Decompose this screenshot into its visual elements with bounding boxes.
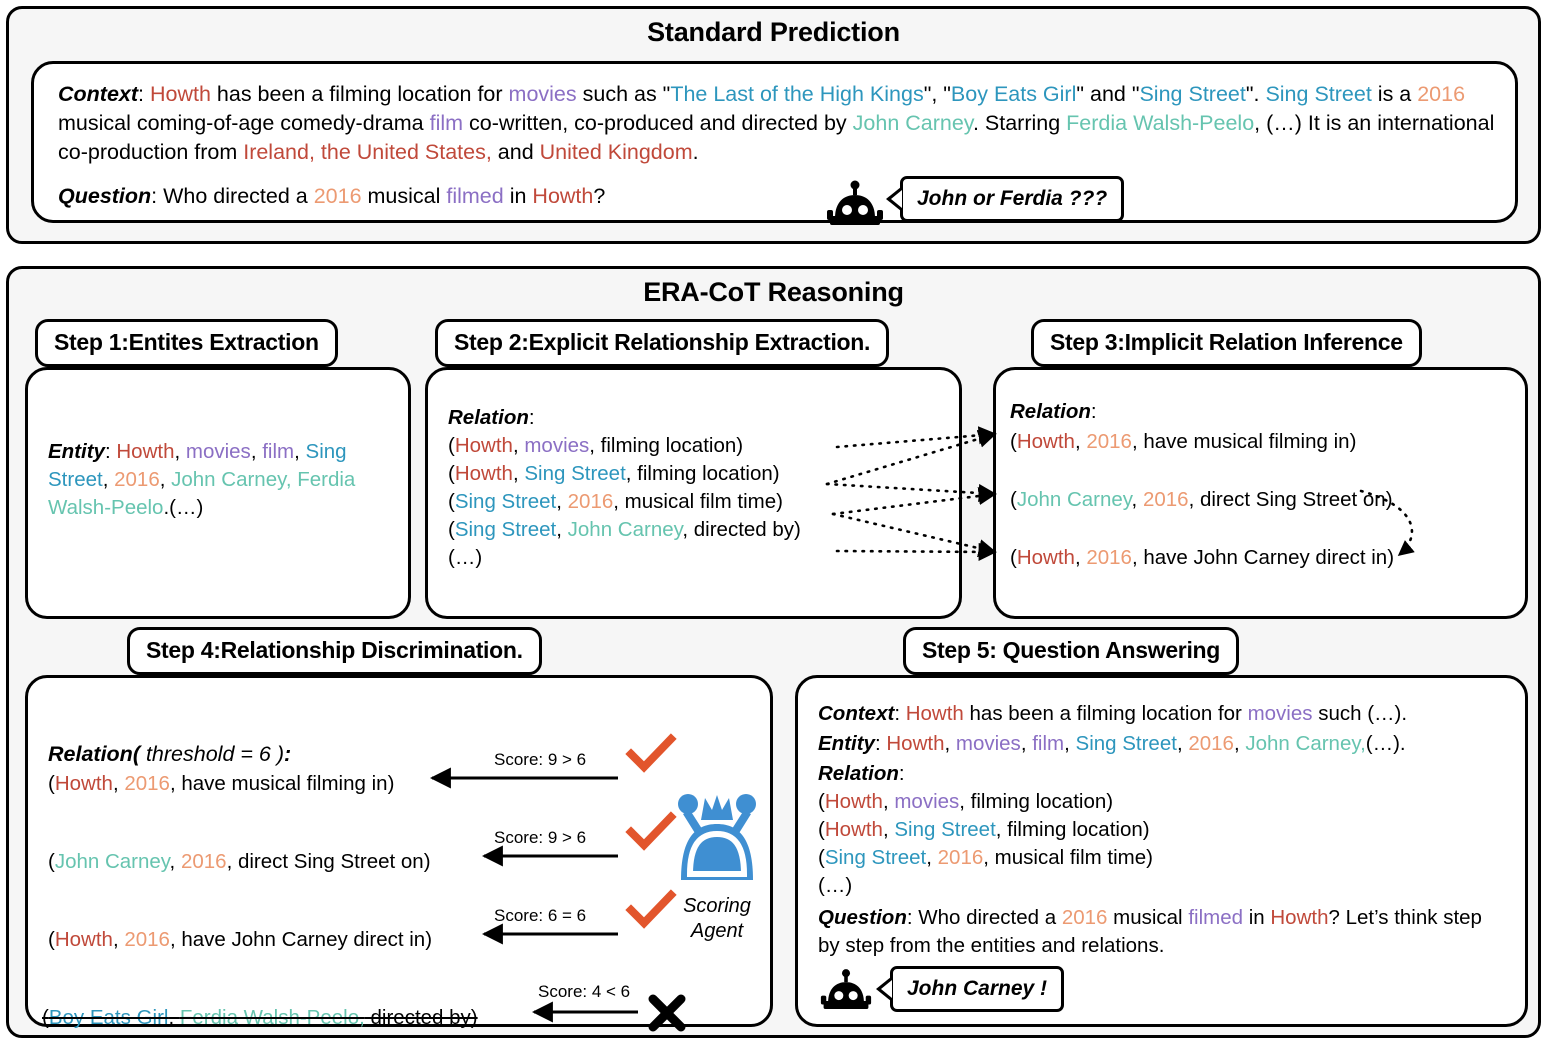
step2-relation-heading: Relation: bbox=[448, 404, 535, 432]
check-icon-1 bbox=[628, 736, 674, 772]
relation-row: (Howth, movies, filming location) bbox=[448, 432, 958, 460]
standard-question-text: Question: Who directed a 2016 musical fi… bbox=[58, 182, 818, 211]
step5-pill: Step 5: Question Answering bbox=[903, 627, 1239, 675]
step1-card: Entity: Howth, movies, film, Sing Street… bbox=[25, 367, 411, 619]
relation-row: (Howth, Sing Street, filming location) bbox=[818, 816, 1498, 844]
relation-row: (…) bbox=[818, 872, 1498, 900]
question-label: Question bbox=[818, 906, 907, 929]
step4-relation-heading: Relation( threshold = 6 ): bbox=[48, 740, 291, 769]
cross-icon-4 bbox=[648, 994, 686, 1032]
step4-row-4: (Boy Eats Girl, Ferdia Walsh-Peelo, dire… bbox=[42, 1004, 478, 1032]
context-rich: : Howth has been a filming location for … bbox=[894, 702, 1407, 725]
step5-context-text: Context: Howth has been a filming locati… bbox=[818, 700, 1407, 728]
step3-relation-heading: Relation: bbox=[1010, 398, 1097, 426]
relation-colon: : bbox=[1091, 400, 1097, 423]
robot-icon bbox=[826, 180, 884, 232]
scoring-agent-icon bbox=[674, 790, 760, 886]
era-cot-panel: ERA-CoT Reasoning Step 1:Entites Extract… bbox=[6, 266, 1541, 1038]
step1-entity-text: Entity: Howth, movies, film, Sing Street… bbox=[48, 438, 398, 522]
step4-card: Relation( threshold = 6 ): (Howth, 2016,… bbox=[25, 675, 773, 1027]
step4-score-2: Score: 9 > 6 bbox=[494, 828, 586, 848]
standard-prediction-title: Standard Prediction bbox=[9, 17, 1538, 48]
context-label: Context bbox=[58, 82, 138, 106]
step3-row-1: (Howth, 2016, have musical filming in) bbox=[1010, 428, 1356, 456]
step4-row-2: (John Carney, 2016, direct Sing Street o… bbox=[48, 848, 431, 876]
step3-pill: Step 3:Implicit Relation Inference bbox=[1031, 319, 1422, 367]
standard-prediction-panel: Standard Prediction Context: Howth has b… bbox=[6, 6, 1541, 244]
entity-rich: : Howth, movies, film, Sing Street, 2016… bbox=[875, 732, 1406, 755]
relation-row: (Sing Street, 2016, musical film time) bbox=[448, 488, 958, 516]
question-rich: : Who directed a 2016 musical filmed in … bbox=[151, 184, 605, 208]
step4-score-4: Score: 4 < 6 bbox=[538, 982, 630, 1002]
relation-row: (Sing Street, John Carney, directed by) bbox=[448, 516, 958, 544]
check-icon-2 bbox=[628, 814, 674, 850]
step4-pill: Step 4:Relationship Discrimination. bbox=[127, 627, 542, 675]
standard-context-text: Context: Howth has been a filming locati… bbox=[58, 80, 1498, 167]
relation-row: (Howth, Sing Street, filming location) bbox=[448, 460, 958, 488]
relation-label: Relation bbox=[818, 762, 899, 785]
step5-entity-text: Entity: Howth, movies, film, Sing Street… bbox=[818, 730, 1406, 758]
step5-relation-rows: (Howth, movies, filming location)(Howth,… bbox=[818, 788, 1498, 900]
relation-colon: : bbox=[529, 406, 535, 429]
step5-question-text: Question: Who directed a 2016 musical fi… bbox=[818, 904, 1504, 960]
relation-label: Relation bbox=[448, 406, 529, 429]
relation-row: (Howth, movies, filming location) bbox=[818, 788, 1498, 816]
step4-score-1: Score: 9 > 6 bbox=[494, 750, 586, 770]
step4-row-3: (Howth, 2016, have John Carney direct in… bbox=[48, 926, 432, 954]
step3-row-2: (John Carney, 2016, direct Sing Street o… bbox=[1010, 486, 1393, 514]
step5-card: Context: Howth has been a filming locati… bbox=[795, 675, 1528, 1027]
era-cot-title: ERA-CoT Reasoning bbox=[9, 277, 1538, 308]
context-rich: : Howth has been a filming location for … bbox=[58, 82, 1494, 164]
step3-card: Relation: (Howth, 2016, have musical fil… bbox=[993, 367, 1528, 619]
step2-relation-rows: (Howth, movies, filming location)(Howth,… bbox=[448, 432, 958, 572]
robot-icon bbox=[820, 968, 872, 1016]
relation-colon: : bbox=[284, 742, 291, 766]
question-rich: : Who directed a 2016 musical filmed in … bbox=[818, 906, 1482, 957]
step2-card: Relation: (Howth, movies, filming locati… bbox=[425, 367, 962, 619]
step5-speech-bubble: John Carney ! bbox=[890, 966, 1064, 1012]
context-label: Context bbox=[818, 702, 894, 725]
question-label: Question bbox=[58, 184, 151, 208]
step4-score-3: Score: 6 = 6 bbox=[494, 906, 586, 926]
relation-row: (Sing Street, 2016, musical film time) bbox=[818, 844, 1498, 872]
step3-row-3: (Howth, 2016, have John Carney direct in… bbox=[1010, 544, 1394, 572]
step5-relation-heading: Relation: bbox=[818, 760, 905, 788]
standard-speech-bubble: John or Ferdia ??? bbox=[900, 176, 1124, 222]
relation-label: Relation bbox=[1010, 400, 1091, 423]
step1-pill: Step 1:Entites Extraction bbox=[35, 319, 338, 367]
scoring-agent-caption: Scoring Agent bbox=[664, 894, 770, 944]
relation-row: (…) bbox=[448, 544, 958, 572]
relation-colon: : bbox=[899, 762, 905, 785]
entity-label: Entity bbox=[48, 440, 105, 463]
step2-pill: Step 2:Explicit Relationship Extraction. bbox=[435, 319, 889, 367]
step4-row-1: (Howth, 2016, have musical filming in) bbox=[48, 770, 394, 798]
threshold-text: threshold = 6 ) bbox=[140, 742, 284, 766]
standard-prediction-card: Context: Howth has been a filming locati… bbox=[31, 61, 1518, 223]
relation-label: Relation( bbox=[48, 742, 140, 766]
entity-label: Entity bbox=[818, 732, 875, 755]
